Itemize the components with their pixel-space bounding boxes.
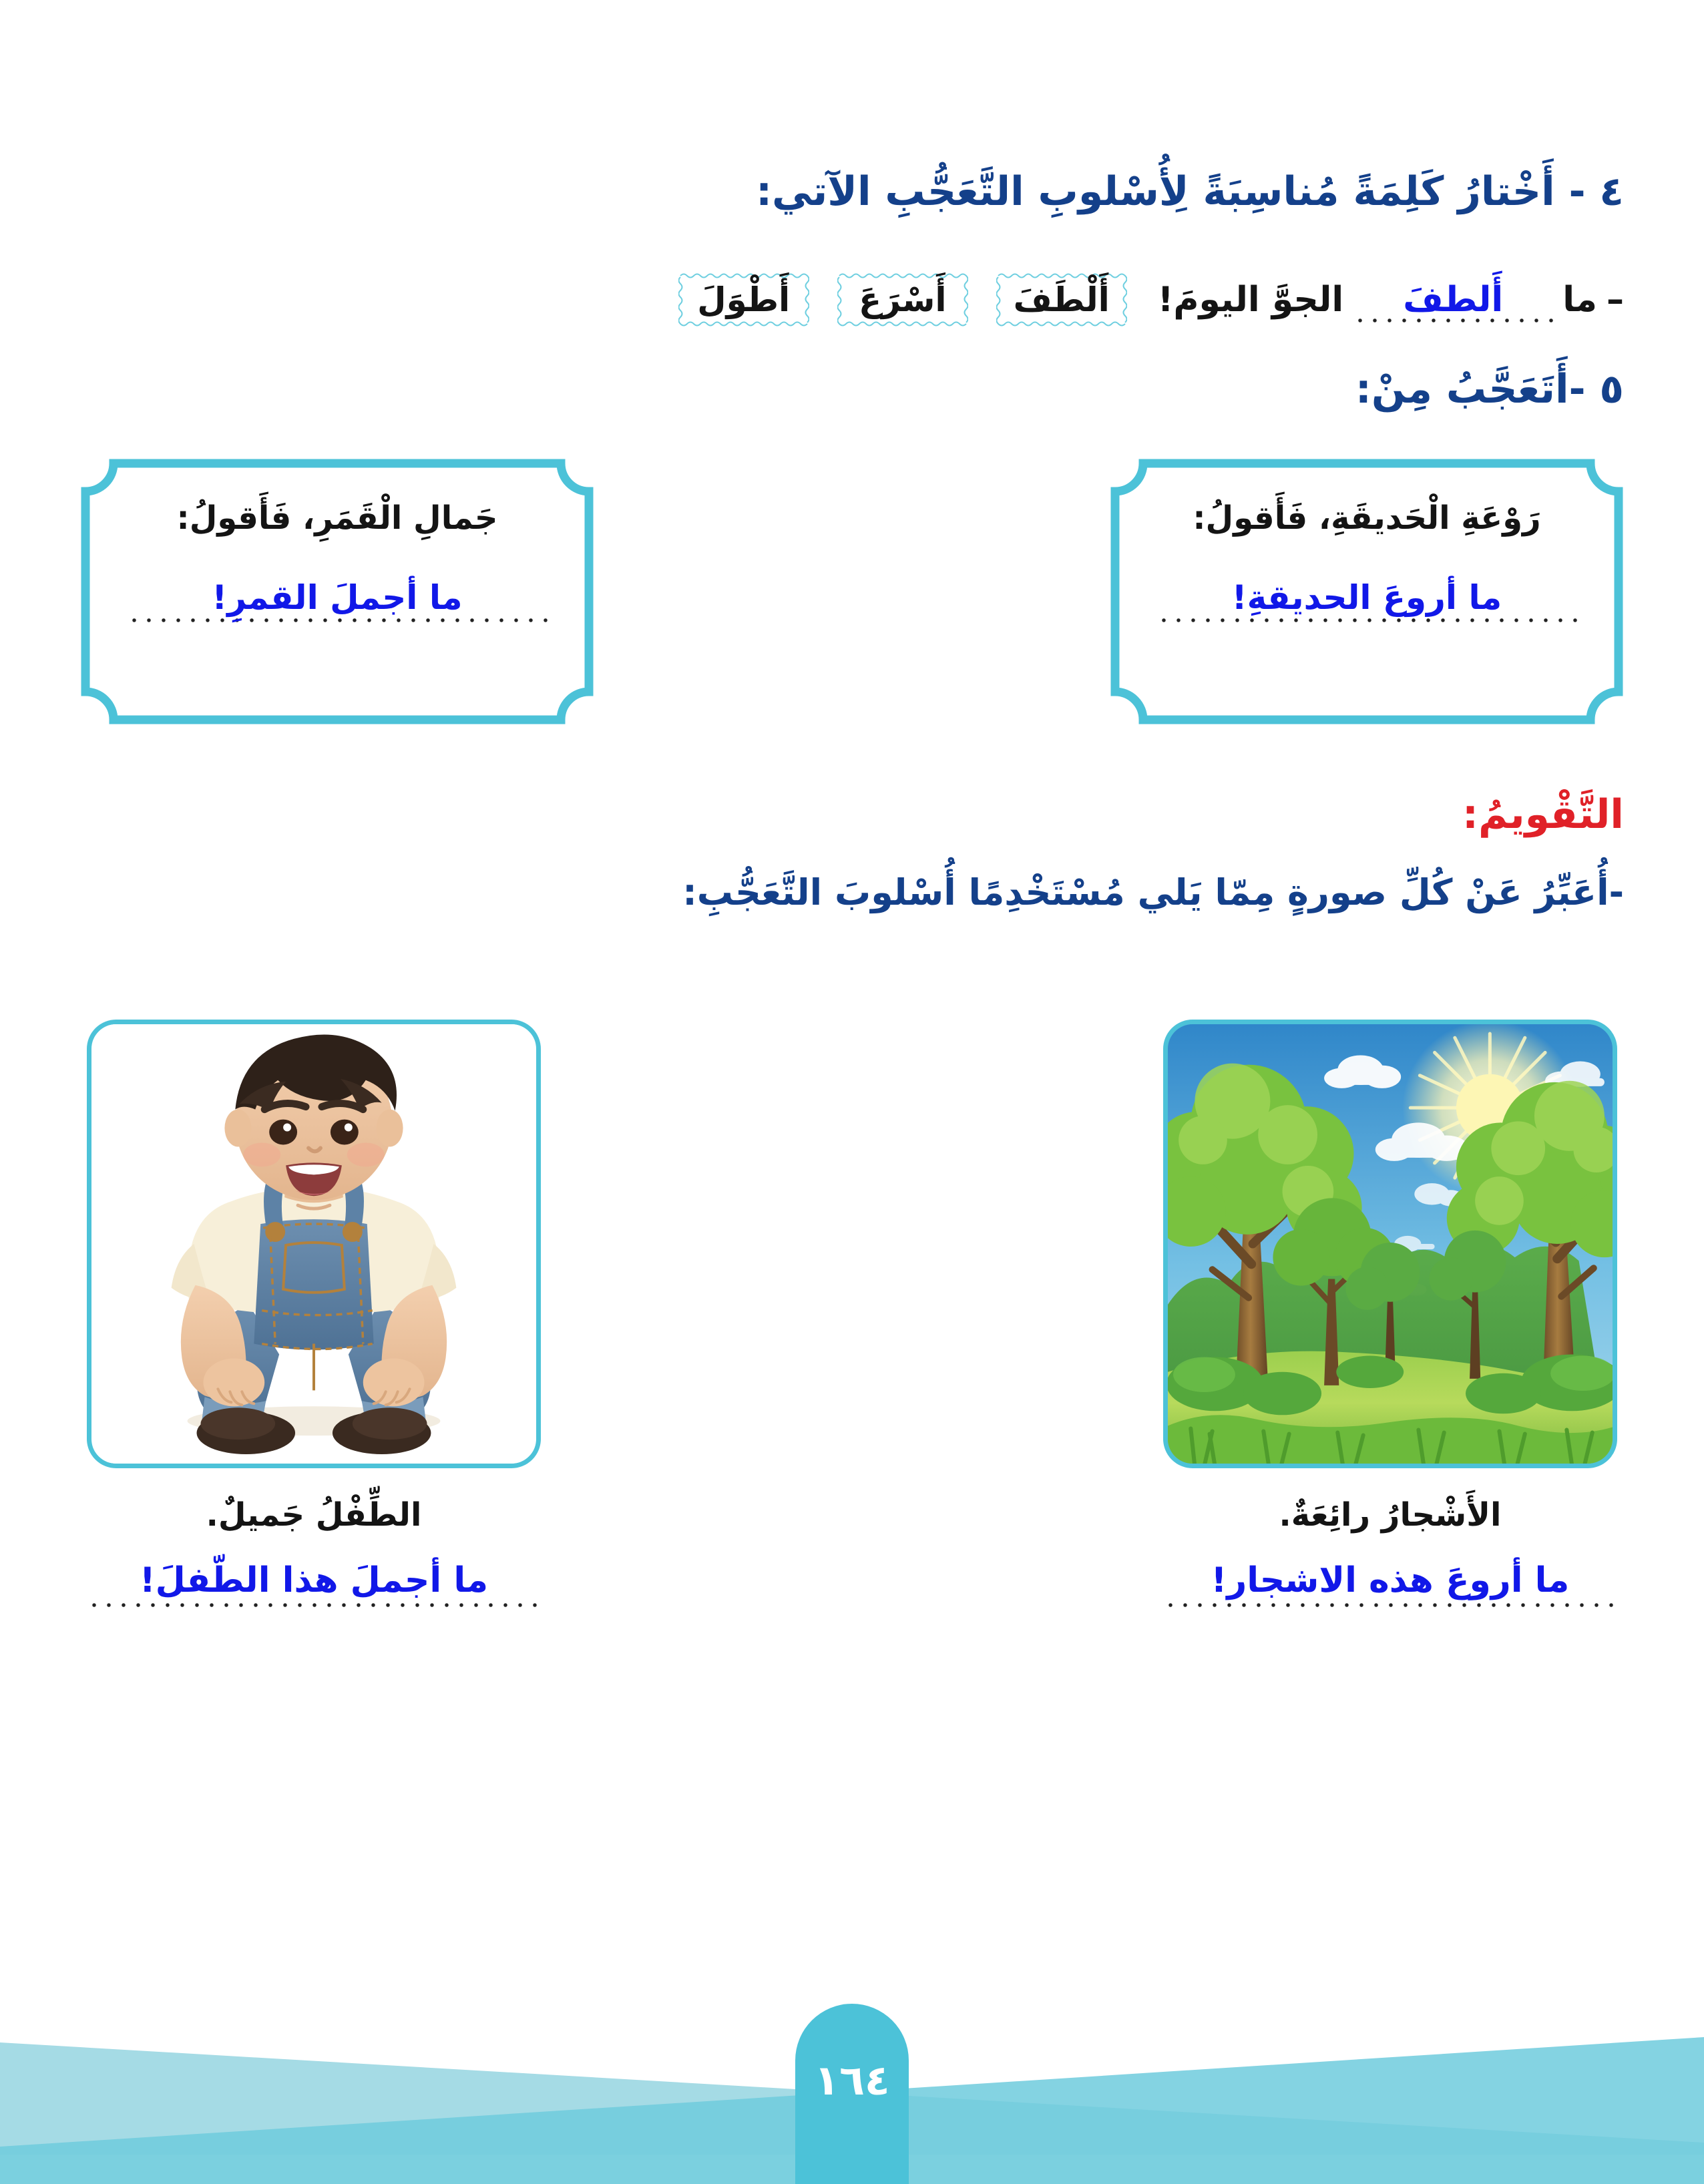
assessment-answer-0: ما أروعَ هذه الاشجار! xyxy=(1211,1560,1570,1600)
exercise-5-heading: ٥ -أَتَعَجَّبُ مِنْ: xyxy=(1355,366,1624,413)
sentence-before-blank: ما xyxy=(1562,280,1597,320)
dotted-line xyxy=(87,1602,541,1608)
dotted-line xyxy=(1163,1602,1617,1608)
assessment-item-0: الأَشْجارُ رائِعَةٌ. ما أروعَ هذه الاشجا… xyxy=(1156,1020,1624,1600)
deco-answer-field-1[interactable]: ما أجملَ القمرِ! xyxy=(127,578,548,617)
deco-card-content-1: جَمالِ الْقَمَرِ، فَأَقولُ: ما أجملَ الق… xyxy=(80,458,594,725)
sentence-after-blank: الجوَّ اليومَ! xyxy=(1158,280,1344,320)
assessment-caption-1: الطِّفْلُ جَميلٌ. xyxy=(206,1496,422,1534)
assessment-item-1: الطِّفْلُ جَميلٌ. ما أجملَ هذا الطّفلَ! xyxy=(80,1020,548,1600)
exercise-4-options: أَلْطَفَ أَسْرَعَ أَطْوَلَ xyxy=(678,272,1127,328)
deco-answer-0: ما أروعَ الحديقةِ! xyxy=(1232,578,1502,617)
assessment-instruction: -أُعَبِّرُ عَنْ كُلِّ صورةٍ مِمّا يَلي م… xyxy=(682,871,1624,913)
deco-card-content-0: رَوْعَةِ الْحَديقَةِ، فَأَقولُ: ما أروعَ… xyxy=(1110,458,1624,725)
assessment-answer-field-0[interactable]: ما أروعَ هذه الاشجار! xyxy=(1163,1560,1617,1600)
assessment-caption-0: الأَشْجارُ رائِعَةٌ. xyxy=(1279,1496,1502,1534)
assessment-picture-row: الأَشْجارُ رائِعَةٌ. ما أروعَ هذه الاشجا… xyxy=(80,1020,1624,1600)
option-box-0[interactable]: أَلْطَفَ xyxy=(996,272,1127,328)
deco-answer-1: ما أجملَ القمرِ! xyxy=(212,578,462,617)
assessment-title: التَّقْويمُ: xyxy=(1462,791,1624,838)
textbook-page: ٤ - أَخْتارُ كَلِمَةً مُناسِبَةً لِأُسْل… xyxy=(0,0,1704,2184)
exercise-5-cards: رَوْعَةِ الْحَديقَةِ، فَأَقولُ: ما أروعَ… xyxy=(80,458,1624,732)
page-footer: ١٦٤ xyxy=(0,1984,1704,2184)
option-label-0: أَلْطَفَ xyxy=(1014,280,1110,319)
forest-trees-sunny-illustration xyxy=(1163,1020,1617,1468)
option-label-1: أَسْرَعَ xyxy=(859,280,947,319)
exercise-4-heading: ٤ - أَخْتارُ كَلِمَةً مُناسِبَةً لِأُسْل… xyxy=(756,168,1624,215)
option-box-2[interactable]: أَطْوَلَ xyxy=(678,272,809,328)
forest-scene-icon xyxy=(1168,1024,1613,1464)
dotted-line xyxy=(1156,617,1577,624)
smiling-baby-denim-overalls-illustration xyxy=(87,1020,541,1468)
exercise-4-blank[interactable]: أَلطفَ xyxy=(1353,280,1553,320)
dotted-line xyxy=(127,617,548,624)
assessment-answer-1: ما أجملَ هذا الطّفلَ! xyxy=(140,1560,488,1600)
page-number-badge: ١٦٤ xyxy=(795,2004,909,2184)
option-box-1[interactable]: أَسْرَعَ xyxy=(837,272,968,328)
page-number: ١٦٤ xyxy=(814,2056,890,2105)
exercise-4-blank-answer: أَلطفَ xyxy=(1403,280,1503,320)
baby-illustration-icon xyxy=(91,1024,536,1464)
sentence-dash: – xyxy=(1607,280,1624,320)
deco-card-0: رَوْعَةِ الْحَديقَةِ، فَأَقولُ: ما أروعَ… xyxy=(1110,458,1624,725)
exercise-4-row: – ما أَلطفَ الجوَّ اليومَ! أَلْطَفَ أَسْ… xyxy=(467,263,1624,337)
option-label-2: أَطْوَلَ xyxy=(697,280,790,319)
deco-answer-field-0[interactable]: ما أروعَ الحديقةِ! xyxy=(1156,578,1577,617)
exercise-4-sentence: – ما أَلطفَ الجوَّ اليومَ! xyxy=(1158,280,1624,320)
deco-prompt-0: رَوْعَةِ الْحَديقَةِ، فَأَقولُ: xyxy=(1193,499,1540,537)
deco-prompt-1: جَمالِ الْقَمَرِ، فَأَقولُ: xyxy=(177,499,498,537)
deco-card-1: جَمالِ الْقَمَرِ، فَأَقولُ: ما أجملَ الق… xyxy=(80,458,594,725)
assessment-answer-field-1[interactable]: ما أجملَ هذا الطّفلَ! xyxy=(87,1560,541,1600)
